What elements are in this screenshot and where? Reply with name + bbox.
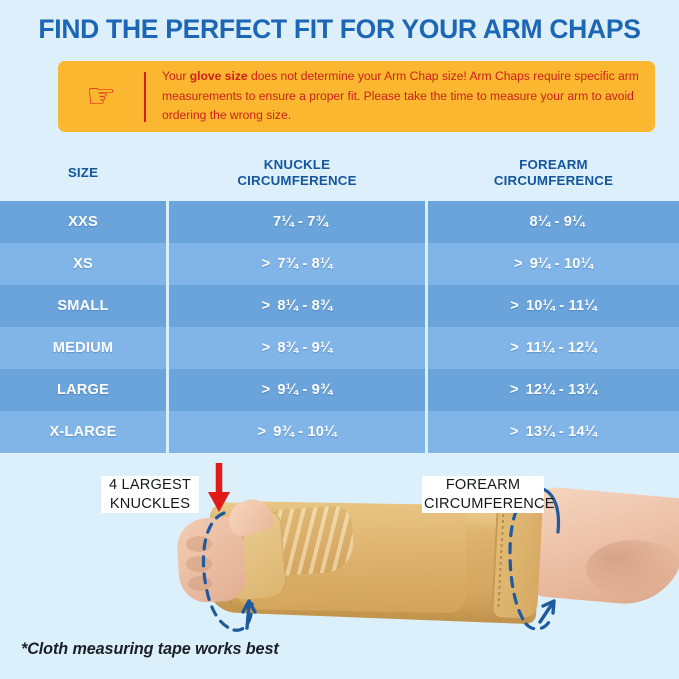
pointing-hand-icon: ☞ (58, 79, 144, 115)
header-knuckle-line2: CIRCUMFERENCE (237, 173, 356, 189)
header-knuckle-circumference: KNUCKLE CIRCUMFERENCE (169, 145, 425, 201)
table-row: XXS 7¼ - 7¾ 8¼ - 9¼ (0, 201, 679, 243)
label-forearm-line2: CIRCUMFERENCE (424, 495, 542, 514)
cell-forearm: >11¼ - 12¼ (428, 327, 679, 369)
cell-forearm-value: 13¼ - 14¼ (526, 424, 598, 440)
arm-shading (586, 540, 679, 598)
header-forearm-line1: FOREARM (494, 157, 613, 173)
label-knuckles-line1: 4 LARGEST (103, 476, 197, 495)
cell-forearm: 8¼ - 9¼ (428, 201, 679, 243)
label-4-largest-knuckles: 4 LARGEST KNUCKLES (101, 476, 199, 513)
cell-knuckle-gt: > (262, 256, 271, 272)
cell-forearm-value: 11¼ - 12¼ (526, 340, 597, 356)
cell-knuckle: >8¼ - 8¾ (169, 285, 425, 327)
callout-text-part1: Your (162, 69, 190, 83)
table-row: MEDIUM >8¾ - 9¼ >11¼ - 12¼ (0, 327, 679, 369)
cell-knuckle-gt: > (262, 298, 271, 314)
cell-knuckle-value: 9¾ - 10¼ (273, 424, 336, 440)
cell-size: XXS (0, 201, 166, 243)
cell-knuckle: >9¾ - 10¼ (169, 411, 425, 453)
size-chart-page: FIND THE PERFECT FIT FOR YOUR ARM CHAPS … (0, 0, 679, 679)
cell-forearm-gt: > (510, 340, 519, 356)
cell-knuckle: >9¼ - 9¾ (169, 369, 425, 411)
cell-forearm-gt: > (510, 424, 519, 440)
cell-knuckle-gt: > (262, 382, 271, 398)
cell-forearm: >12¼ - 13¼ (428, 369, 679, 411)
page-title: FIND THE PERFECT FIT FOR YOUR ARM CHAPS (0, 14, 679, 45)
table-row: XS >7¾ - 8¼ >9¼ - 10¼ (0, 243, 679, 285)
footnote: *Cloth measuring tape works best (21, 640, 279, 659)
cell-knuckle-value: 9¼ - 9¾ (277, 382, 332, 398)
cell-size: MEDIUM (0, 327, 166, 369)
knuckle-shape (186, 536, 212, 552)
cell-size: XS (0, 243, 166, 285)
cell-forearm-value: 9¼ - 10¼ (530, 256, 593, 272)
table-row: LARGE >9¼ - 9¾ >12¼ - 13¼ (0, 369, 679, 411)
cell-forearm-value: 12¼ - 13¼ (526, 382, 598, 398)
cell-knuckle: >8¾ - 9¼ (169, 327, 425, 369)
cell-size: SMALL (0, 285, 166, 327)
header-size: SIZE (0, 145, 166, 201)
cell-forearm-value: 10¼ - 11¼ (526, 298, 597, 314)
label-forearm-line1: FOREARM (424, 476, 542, 495)
table-row: SMALL >8¼ - 8¾ >10¼ - 11¼ (0, 285, 679, 327)
cell-forearm-value: 8¼ - 9¼ (530, 214, 585, 230)
label-forearm-circumference: FOREARM CIRCUMFERENCE (422, 476, 544, 513)
cell-knuckle-value: 7¾ - 8¼ (277, 256, 332, 272)
cell-knuckle-gt: > (258, 424, 267, 440)
table-row: X-LARGE >9¾ - 10¼ >13¼ - 14¼ (0, 411, 679, 453)
glove-size-callout: ☞ Your glove size does not determine you… (58, 61, 655, 132)
callout-text: Your glove size does not determine your … (146, 67, 655, 126)
cell-knuckle-value: 8¼ - 8¾ (277, 298, 332, 314)
knuckle-shape (188, 576, 212, 591)
cell-size: LARGE (0, 369, 166, 411)
knuckle-shape (186, 556, 212, 572)
table-header-row: SIZE KNUCKLE CIRCUMFERENCE FOREARM CIRCU… (0, 145, 679, 201)
cell-knuckle: 7¼ - 7¾ (169, 201, 425, 243)
label-knuckles-line2: KNUCKLES (103, 495, 197, 514)
header-forearm-circumference: FOREARM CIRCUMFERENCE (428, 145, 679, 201)
header-forearm-line2: CIRCUMFERENCE (494, 173, 613, 189)
cell-forearm-gt: > (510, 298, 519, 314)
cell-knuckle-value: 8¾ - 9¼ (277, 340, 332, 356)
cell-forearm: >9¼ - 10¼ (428, 243, 679, 285)
cell-knuckle-value: 7¼ - 7¾ (273, 214, 328, 230)
cell-forearm-gt: > (510, 382, 519, 398)
cell-knuckle-gt: > (262, 340, 271, 356)
callout-text-bold: glove size (190, 69, 248, 83)
cell-size: X-LARGE (0, 411, 166, 453)
header-knuckle-line1: KNUCKLE (237, 157, 356, 173)
cell-forearm: >13¼ - 14¼ (428, 411, 679, 453)
cell-forearm: >10¼ - 11¼ (428, 285, 679, 327)
size-table: SIZE KNUCKLE CIRCUMFERENCE FOREARM CIRCU… (0, 145, 679, 453)
cell-forearm-gt: > (514, 256, 523, 272)
cell-knuckle: >7¾ - 8¼ (169, 243, 425, 285)
